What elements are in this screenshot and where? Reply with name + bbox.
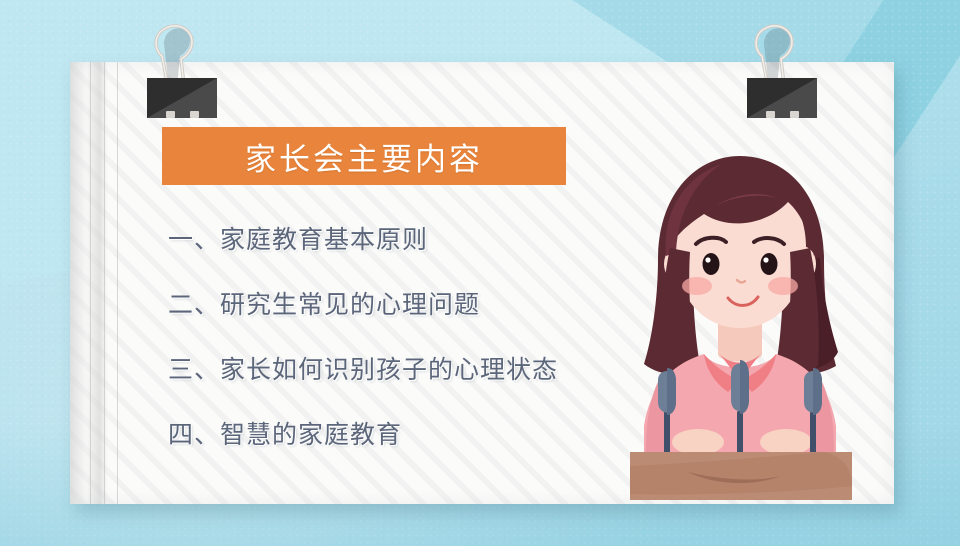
presentation-slide: 家长会主要内容 一、家庭教育基本原则 二、研究生常见的心理问题 三、家长如何识别… [0, 0, 960, 546]
eye-highlight-right [763, 257, 768, 262]
list-item: 三、家长如何识别孩子的心理状态 [168, 358, 638, 383]
slide-title: 家长会主要内容 [245, 134, 483, 179]
list-item: 一、家庭教育基本原则 [168, 228, 638, 253]
binder-clip-icon [140, 16, 226, 120]
card-fold-line-c [117, 62, 118, 504]
eye-highlight-left [705, 257, 710, 262]
cheek-left [682, 277, 712, 295]
cheek-right [768, 277, 798, 295]
hand-left [672, 429, 724, 455]
card-fold-line-b [104, 62, 105, 504]
binder-clip-right [740, 16, 826, 120]
card-fold-line-a [90, 62, 91, 504]
binder-clip-left [140, 16, 226, 120]
title-banner: 家长会主要内容 [162, 127, 566, 185]
binder-clip-icon [740, 16, 826, 120]
list-item: 四、智慧的家庭教育 [168, 423, 638, 448]
eye-left [703, 253, 720, 275]
illustration-woman-speaking-at-podium [600, 140, 880, 500]
agenda-list: 一、家庭教育基本原则 二、研究生常见的心理问题 三、家长如何识别孩子的心理状态 … [168, 228, 638, 448]
podium [630, 452, 852, 500]
hand-right [760, 429, 812, 455]
list-item: 二、研究生常见的心理问题 [168, 293, 638, 318]
eye-right [761, 253, 778, 275]
card-fold-strip [70, 62, 118, 504]
